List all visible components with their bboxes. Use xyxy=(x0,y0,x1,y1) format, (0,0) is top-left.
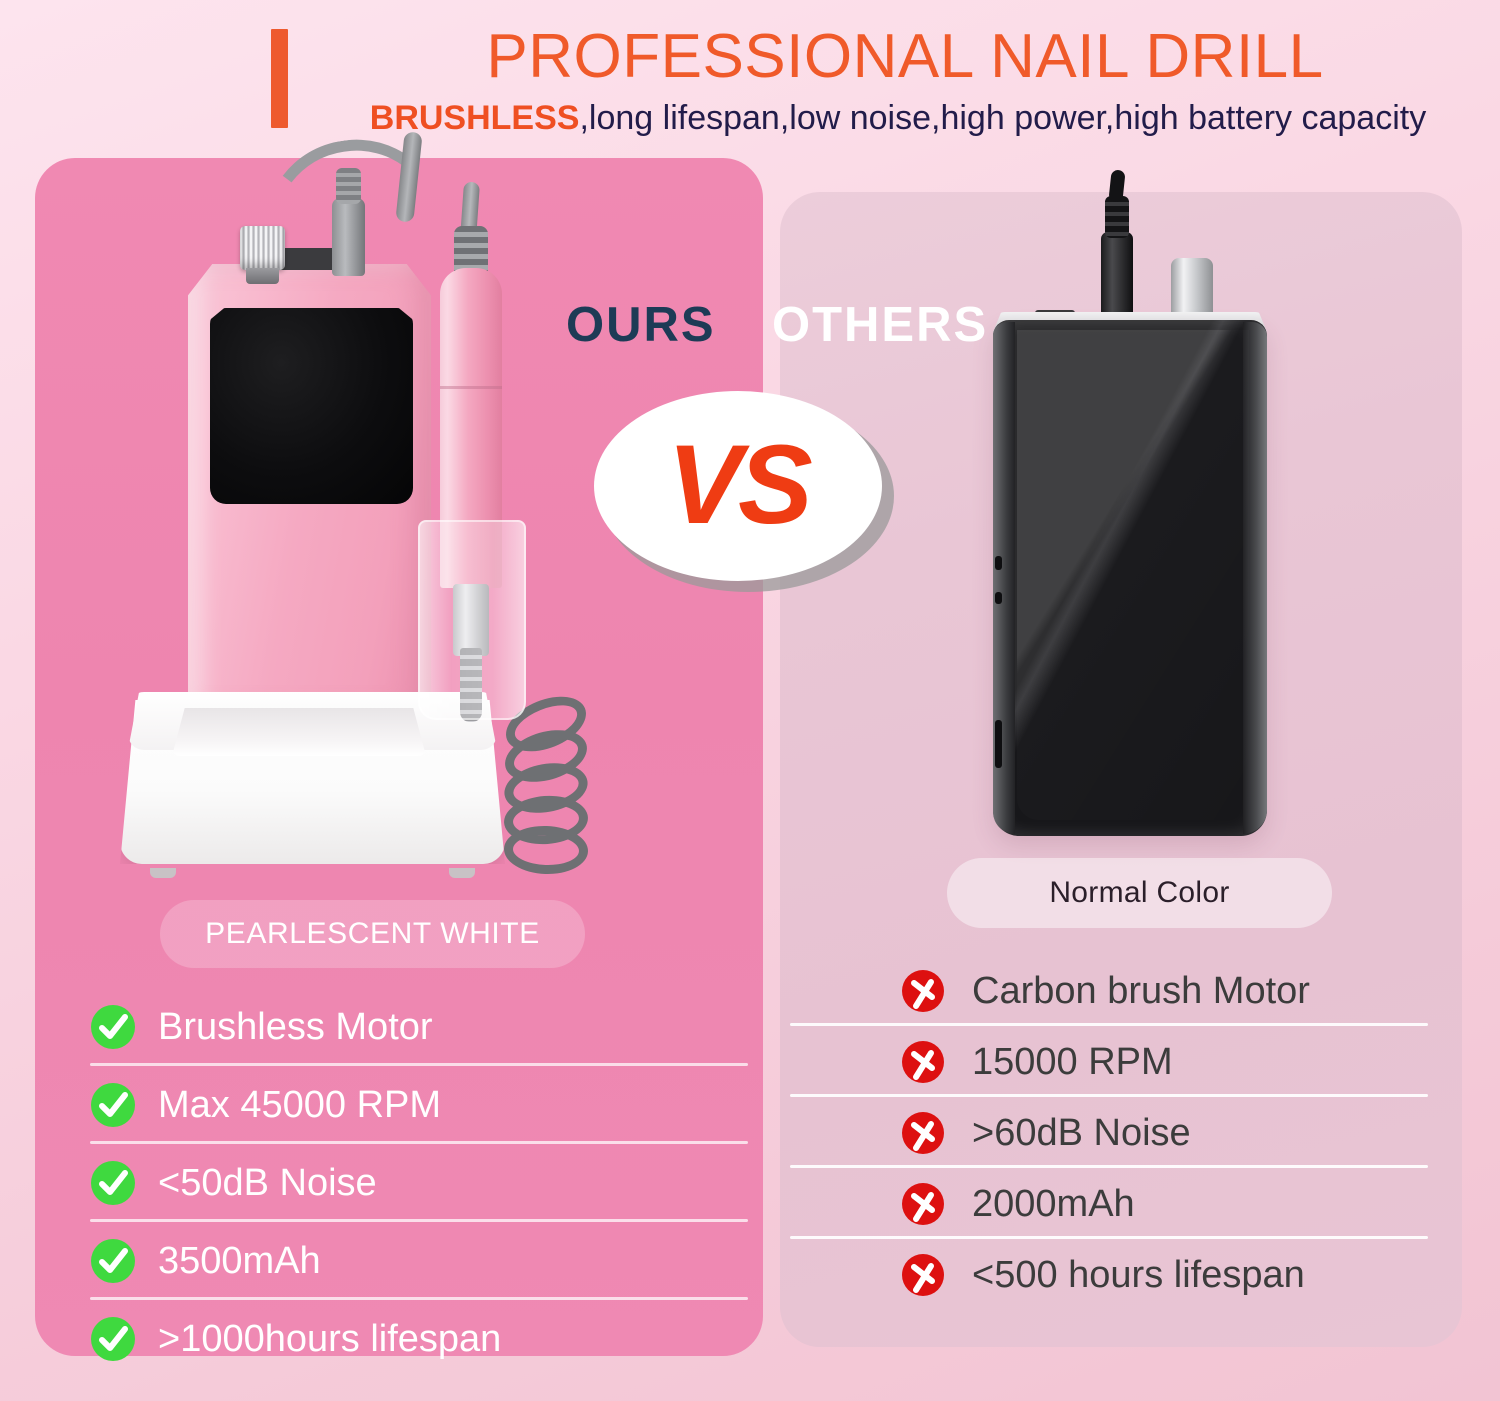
others-side-button-1 xyxy=(995,556,1002,570)
cross-circle-icon xyxy=(900,1039,946,1085)
feature-label: Brushless Motor xyxy=(158,1008,433,1046)
feature-label: 2000mAh xyxy=(972,1185,1135,1223)
others-cable-plug xyxy=(1101,232,1133,316)
cross-circle-icon xyxy=(900,968,946,1014)
list-item: Carbon brush Motor xyxy=(790,955,1450,1026)
others-side-port xyxy=(995,720,1002,768)
unit-metal-knob xyxy=(240,226,285,270)
others-feature-list: Carbon brush Motor 15000 RPM >60dB Noise… xyxy=(790,955,1450,1310)
feature-label: Max 45000 RPM xyxy=(158,1086,441,1124)
feature-label: <500 hours lifespan xyxy=(972,1256,1305,1294)
feature-label: 15000 RPM xyxy=(972,1043,1173,1081)
others-device-body xyxy=(993,320,1267,836)
handpiece-acrylic-holder xyxy=(418,520,526,720)
check-circle-icon xyxy=(90,1238,136,1284)
check-circle-icon xyxy=(90,1160,136,1206)
others-color-pill: Normal Color xyxy=(947,858,1332,928)
unit-display-screen xyxy=(210,308,413,504)
cross-circle-icon xyxy=(900,1181,946,1227)
handpiece-pen xyxy=(440,228,502,698)
feature-label: <50dB Noise xyxy=(158,1164,377,1202)
list-item: Brushless Motor xyxy=(90,988,750,1066)
cross-circle-icon xyxy=(900,1110,946,1156)
feature-label: 3500mAh xyxy=(158,1242,321,1280)
title-accent-bar xyxy=(271,29,288,128)
check-circle-icon xyxy=(90,1082,136,1128)
vs-text: VS xyxy=(667,420,808,549)
subtitle-highlight: BRUSHLESS xyxy=(370,99,580,137)
page-title: PROFESSIONAL NAIL DRILL xyxy=(320,24,1490,90)
others-product-image xyxy=(975,200,1305,860)
ours-color-pill: PEARLESCENT WHITE xyxy=(160,900,585,968)
others-metal-knob xyxy=(1171,258,1213,316)
base-foot-right xyxy=(449,868,475,878)
coiled-cord xyxy=(478,700,598,890)
header: PROFESSIONAL NAIL DRILL BRUSHLESS,long l… xyxy=(0,0,1500,150)
feature-label: >1000hours lifespan xyxy=(158,1320,501,1358)
vs-badge-oval: VS xyxy=(594,391,882,581)
feature-label: >60dB Noise xyxy=(972,1114,1191,1152)
ours-product-image xyxy=(110,140,630,880)
ours-feature-list: Brushless Motor Max 45000 RPM <50dB Nois… xyxy=(90,988,750,1378)
check-circle-icon xyxy=(90,1004,136,1050)
ours-label: OURS xyxy=(566,297,716,353)
cross-circle-icon xyxy=(900,1252,946,1298)
base-foot-left xyxy=(150,868,176,878)
subtitle-rest: ,long lifespan,low noise,high power,high… xyxy=(579,99,1426,137)
list-item: 2000mAh xyxy=(790,1168,1450,1239)
others-label: OTHERS xyxy=(772,297,988,353)
others-right-edge xyxy=(1243,322,1267,834)
list-item: Max 45000 RPM xyxy=(90,1066,750,1144)
feature-label: Carbon brush Motor xyxy=(972,972,1310,1010)
infographic-page: PROFESSIONAL NAIL DRILL BRUSHLESS,long l… xyxy=(0,0,1500,1401)
page-subtitle: BRUSHLESS,long lifespan,low noise,high p… xyxy=(300,100,1496,137)
list-item: >1000hours lifespan xyxy=(90,1300,750,1378)
list-item: >60dB Noise xyxy=(790,1097,1450,1168)
vs-badge: VS xyxy=(594,391,894,592)
list-item: <500 hours lifespan xyxy=(790,1239,1450,1310)
check-circle-icon xyxy=(90,1316,136,1362)
list-item: 15000 RPM xyxy=(790,1026,1450,1097)
base-dock-well xyxy=(172,708,426,756)
list-item: <50dB Noise xyxy=(90,1144,750,1222)
others-side-button-2 xyxy=(995,592,1002,604)
list-item: 3500mAh xyxy=(90,1222,750,1300)
unit-cable-plug xyxy=(332,198,365,276)
